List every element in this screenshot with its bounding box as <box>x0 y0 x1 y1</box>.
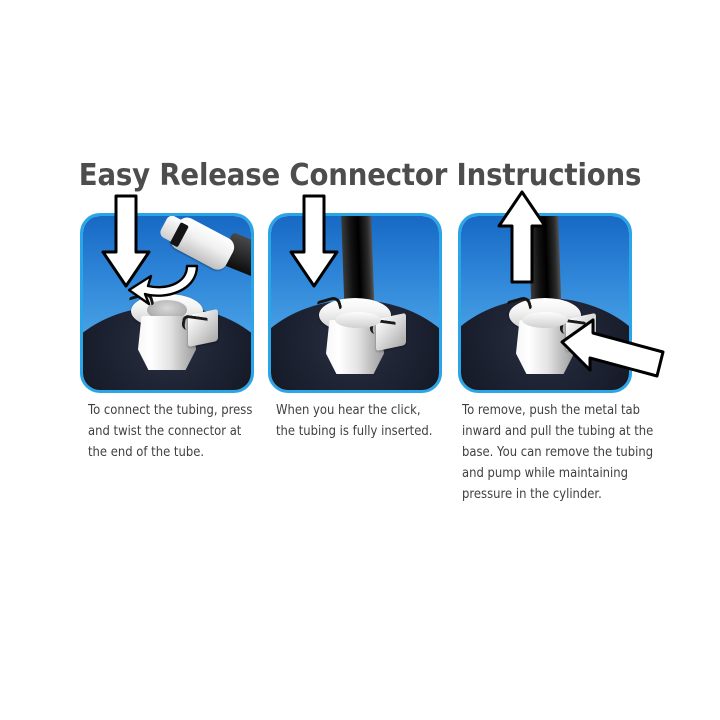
down-arrow <box>287 194 341 290</box>
base-fitting-graphic <box>313 286 397 382</box>
caption-line: the end of the tube. <box>88 442 252 463</box>
down-arrow <box>99 194 153 290</box>
caption-line: When you hear the click, <box>276 400 432 421</box>
left-pointing-arrow <box>559 318 669 380</box>
caption-line: To connect the tubing, press <box>88 400 252 421</box>
up-arrow <box>495 190 549 286</box>
instruction-sheet: Easy Release Connector Instructions <box>0 0 720 720</box>
caption-step-3: To remove, push the metal tab inward and… <box>462 400 653 505</box>
steps-container <box>0 213 720 395</box>
step-panel-3 <box>458 213 632 393</box>
caption-step-2: When you hear the click, the tubing is f… <box>276 400 432 442</box>
step-panel-1 <box>80 213 254 393</box>
caption-line: pressure in the cylinder. <box>462 484 653 505</box>
tube-seated-collar <box>335 312 381 328</box>
caption-step-1: To connect the tubing, press and twist t… <box>88 400 252 463</box>
caption-line: inward and pull the tubing at the <box>462 421 653 442</box>
step-panel-2 <box>268 213 442 393</box>
page-title: Easy Release Connector Instructions <box>29 158 691 193</box>
caption-line: and twist the connector at <box>88 421 252 442</box>
caption-line: To remove, push the metal tab <box>462 400 653 421</box>
caption-line: and pump while maintaining <box>462 463 653 484</box>
caption-line: the tubing is fully inserted. <box>276 421 432 442</box>
caption-line: base. You can remove the tubing <box>462 442 653 463</box>
